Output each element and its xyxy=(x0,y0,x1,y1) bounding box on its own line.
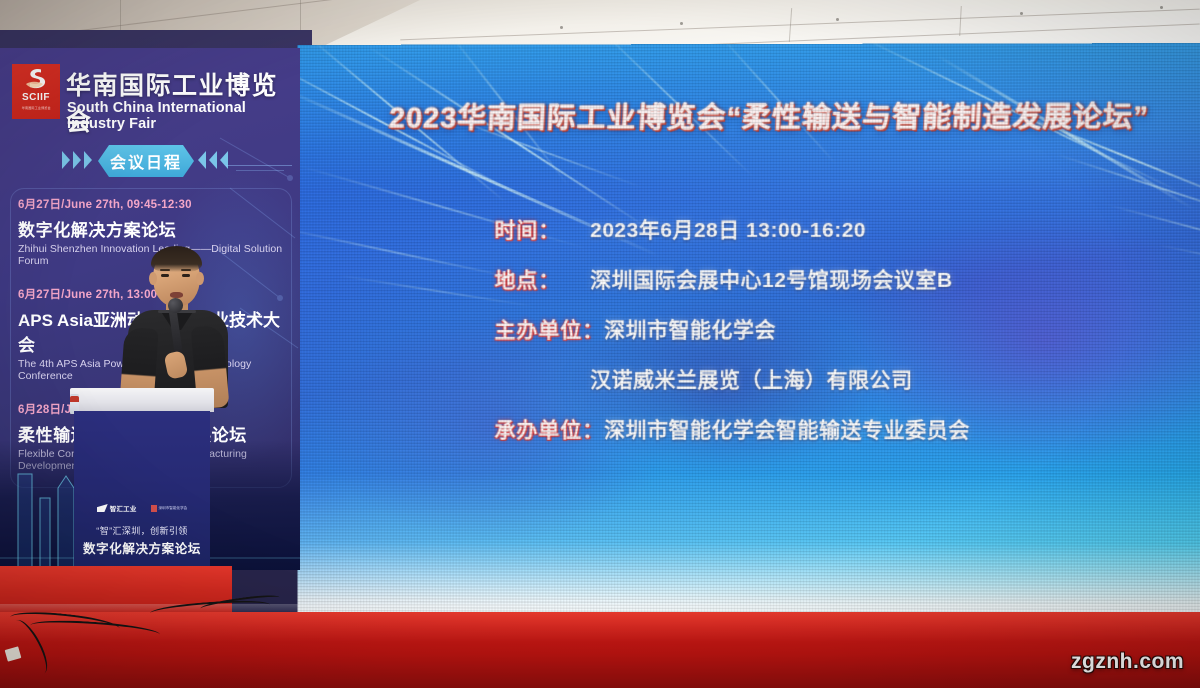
lectern-logos: 智汇工业 深圳市智能化学会 xyxy=(74,503,210,513)
detail-label: 主办单位： xyxy=(494,314,604,344)
speaker-person xyxy=(118,248,238,408)
detail-value: 汉诺威米兰展览（上海）有限公司 xyxy=(590,364,912,394)
sciif-logo-subtext: 华南国际工业博览会 xyxy=(22,105,51,110)
watermark: zgznh.com xyxy=(1071,650,1184,674)
detail-row-organizer: 承办单位： 深圳市智能化学会智能输送专业委员会 xyxy=(494,414,1155,444)
lectern-brand-secondary-text: 深圳市智能化学会 xyxy=(159,506,188,511)
sciif-logo: SCIIF 华南国际工业博览会 xyxy=(12,64,60,119)
detail-row-venue: 地点： 深圳国际会展中心12号馆现场会议室B xyxy=(494,264,1155,294)
agenda-badge-label: 会议日程 xyxy=(110,149,182,173)
badge-deco-line xyxy=(226,165,292,166)
agenda-badge: 会议日程 xyxy=(98,145,194,177)
agenda-badge-row: 会议日程 xyxy=(0,145,300,179)
speaker-eye-right xyxy=(182,274,190,277)
forum-title: 2023华南国际工业博览会“柔性输送与智能制造发展论坛” xyxy=(348,93,1190,136)
ceiling-fixture xyxy=(1160,6,1163,9)
lectern-slogan: “智”汇深圳，创新引领 xyxy=(74,524,210,537)
speaker-brow-right xyxy=(181,269,191,271)
bottle-cap xyxy=(70,396,79,402)
lectern-forum-name: 数字化解决方案论坛 xyxy=(74,538,210,557)
speaker-brow-left xyxy=(160,269,170,271)
banner-title-en: South China International Industry Fair xyxy=(67,100,300,132)
detail-label: 地点： xyxy=(494,264,590,294)
brand-mark-icon xyxy=(97,504,108,512)
detail-row-host-2: 汉诺威米兰展览（上海）有限公司 xyxy=(494,364,1155,394)
brand-mark-2-icon xyxy=(151,505,157,512)
detail-row-host: 主办单位： 深圳市智能化学会 xyxy=(494,314,1155,344)
lectern-brand-primary-text: 智汇工业 xyxy=(110,503,137,513)
detail-value: 深圳市智能化学会 xyxy=(604,314,776,344)
detail-row-time: 时间： 2023年6月28日 13:00-16:20 xyxy=(494,214,1155,245)
detail-label: 承办单位： xyxy=(494,414,604,444)
speaker-ear-right xyxy=(196,272,204,285)
detail-value: 深圳国际会展中心12号馆现场会议室B xyxy=(590,264,953,294)
led-display-screen: 2023华南国际工业博览会“柔性输送与智能制造发展论坛” 时间： 2023年6月… xyxy=(298,43,1200,625)
lectern-brand-primary: 智汇工业 xyxy=(97,503,137,513)
badge-deco-line-2 xyxy=(236,170,284,171)
conference-stage-photo: 2023华南国际工业博览会“柔性输送与智能制造发展论坛” 时间： 2023年6月… xyxy=(0,0,1200,688)
detail-value: 2023年6月28日 13:00-16:20 xyxy=(590,214,866,244)
detail-value: 深圳市智能化学会智能输送专业委员会 xyxy=(604,414,970,444)
agenda-item-title-cn: 数字化解决方案论坛 xyxy=(18,216,296,241)
agenda-item-date: 6月27日/June 27th, 09:45-12:30 xyxy=(18,196,296,212)
ceiling-joint xyxy=(959,6,962,36)
speaker-hair xyxy=(151,246,202,272)
speaker-eye-left xyxy=(161,274,169,277)
speaker-ear-left xyxy=(149,272,157,285)
detail-label: 时间： xyxy=(494,214,590,244)
ceiling-fixture xyxy=(1020,12,1023,15)
forum-details: 时间： 2023年6月28日 13:00-16:20 地点： 深圳国际会展中心1… xyxy=(494,214,1155,465)
chevron-left-icons xyxy=(198,151,228,169)
chevron-right-icons xyxy=(62,151,92,169)
sciif-mark-icon xyxy=(24,68,48,90)
sciif-logo-text: SCIIF xyxy=(22,92,50,103)
lectern-top-surface xyxy=(70,388,214,412)
lectern-brand-secondary: 深圳市智能化学会 xyxy=(151,505,188,512)
ceiling-fixture xyxy=(836,18,839,21)
ceiling-joint xyxy=(120,0,121,30)
ceiling-fixture xyxy=(560,26,563,29)
ceiling-seam xyxy=(400,9,1199,41)
ceiling-fixture xyxy=(680,22,683,25)
